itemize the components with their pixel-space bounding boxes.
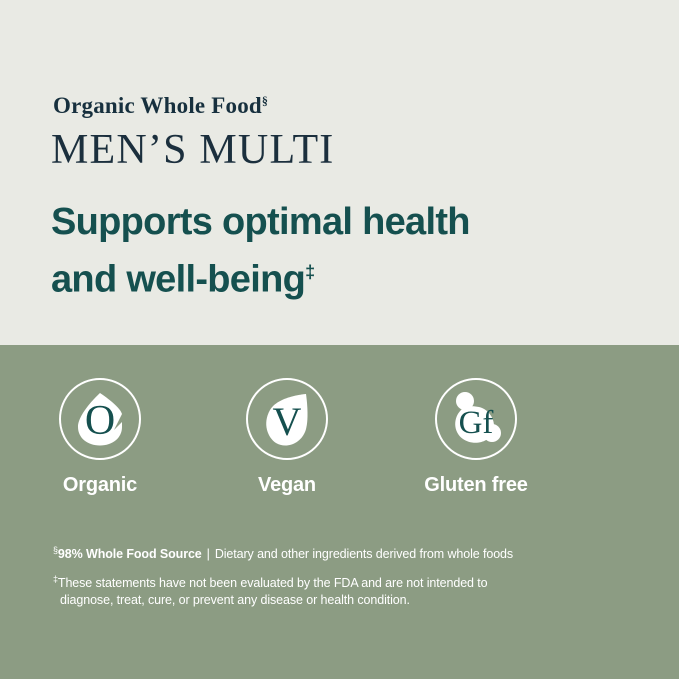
vegan-leaf-icon: V xyxy=(248,380,326,458)
badge-label-organic: Organic xyxy=(15,474,185,497)
headline-line-1: Supports optimal health xyxy=(51,201,470,243)
badge-vegan: V Vegan xyxy=(202,378,372,497)
badge-organic: O Organic xyxy=(15,378,185,497)
footnote-fda-disclaimer: ‡These statements have not been evaluate… xyxy=(53,571,653,609)
svg-text:Gf: Gf xyxy=(459,405,494,441)
headline-panel: Organic Whole Food§ MEN’S MULTI Supports… xyxy=(0,0,679,345)
footnote-source-strong: 98% Whole Food Source xyxy=(58,547,202,561)
certifications-panel: O Organic V Vegan xyxy=(0,345,679,679)
page-title: MEN’S MULTI xyxy=(51,126,335,174)
eyebrow-footnote-marker: § xyxy=(262,93,268,107)
footnote-separator: | xyxy=(202,547,215,561)
badge-label-vegan: Vegan xyxy=(202,474,372,497)
svg-text:O: O xyxy=(85,398,115,444)
eyebrow-text: Organic Whole Food§ xyxy=(53,93,268,119)
headline-footnote-marker: ‡ xyxy=(305,262,314,282)
badge-label-gluten-free: Gluten free xyxy=(391,474,561,497)
badge-ring-vegan: V xyxy=(246,378,328,460)
gluten-free-grain-icon: Gf xyxy=(437,380,515,458)
footnotes: §98% Whole Food Source|Dietary and other… xyxy=(53,545,653,609)
organic-leaf-icon: O xyxy=(61,380,139,458)
headline-line-2: and well-being xyxy=(51,259,305,301)
eyebrow-label: Organic Whole Food xyxy=(53,93,262,118)
footnote-whole-food-source: §98% Whole Food Source|Dietary and other… xyxy=(53,545,653,561)
product-feature-panel: Organic Whole Food§ MEN’S MULTI Supports… xyxy=(0,0,679,679)
badge-ring-gluten-free: Gf xyxy=(435,378,517,460)
footnote-source-rest: Dietary and other ingredients derived fr… xyxy=(215,547,513,561)
headline-text: Supports optimal health and well-being‡ xyxy=(51,197,651,305)
badge-gluten-free: Gf Gluten free xyxy=(391,378,561,497)
certification-badges: O Organic V Vegan xyxy=(0,378,679,528)
badge-ring-organic: O xyxy=(59,378,141,460)
footnote-fda-line-2: diagnose, treat, cure, or prevent any di… xyxy=(53,592,653,609)
footnote-fda-line-1: These statements have not been evaluated… xyxy=(58,576,488,590)
svg-text:V: V xyxy=(273,399,302,444)
